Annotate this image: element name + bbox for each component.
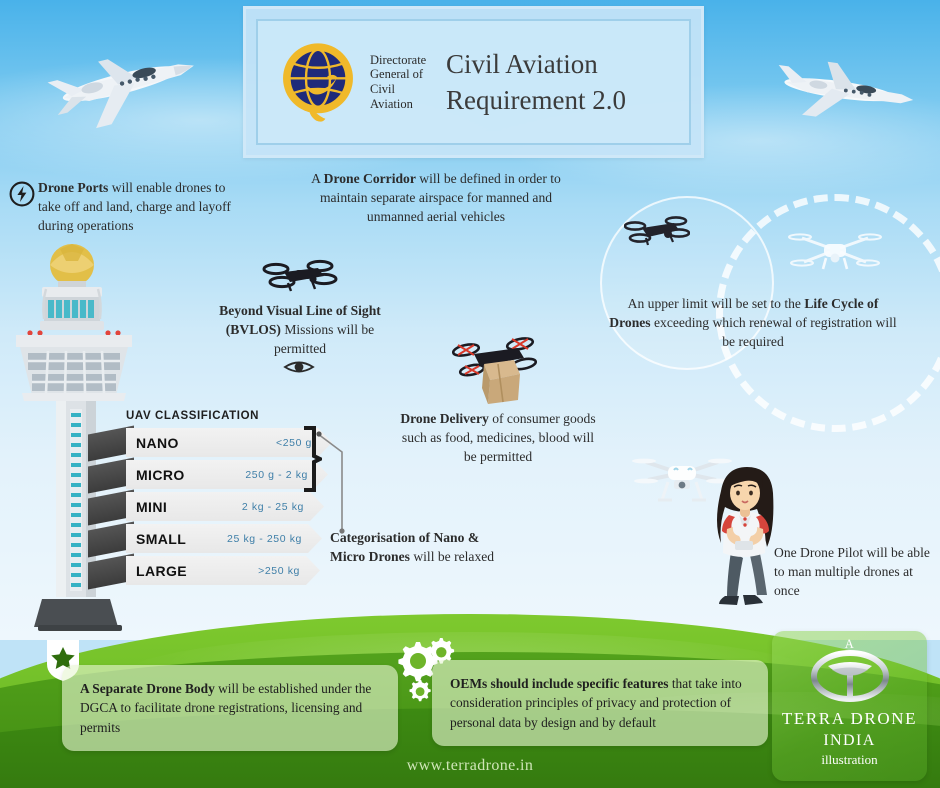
- dgca-word-1: Directorate: [370, 53, 430, 68]
- life-cycle-pre: An upper limit will be set to the: [628, 296, 805, 311]
- separate-drone-body-card: A Separate Drone Body will be establishe…: [62, 665, 398, 751]
- airplane-left-icon: [26, 38, 206, 130]
- airplane-right-icon: [762, 50, 922, 128]
- drone-corridor-pre: A: [311, 171, 323, 186]
- footer-website-url[interactable]: www.terradrone.in: [0, 757, 940, 775]
- separate-body-bold: A Separate Drone Body: [80, 681, 215, 696]
- life-cycle-rest: exceeding which renewal of registration …: [651, 315, 897, 349]
- uav-row-value: 25 kg - 250 kg: [227, 533, 302, 545]
- drone-delivery-text: Drone Delivery of consumer goods such as…: [398, 410, 598, 466]
- dgca-word-2: General of: [370, 67, 430, 82]
- one-pilot-text: One Drone Pilot will be able to man mult…: [774, 544, 936, 600]
- infographic-canvas: Directorate General of Civil Aviation Ci…: [0, 0, 940, 788]
- header-inner-frame: Directorate General of Civil Aviation Ci…: [256, 19, 691, 145]
- uav-chip: LARGE >250 kg: [126, 556, 320, 585]
- uav-chip: SMALL 25 kg - 250 kg: [126, 524, 322, 553]
- uav-row-value: 2 kg - 25 kg: [242, 501, 304, 513]
- page-title: Civil Aviation Requirement 2.0: [446, 46, 626, 118]
- brand-country: INDIA: [772, 732, 927, 750]
- uav-row-label: MICRO: [136, 467, 185, 483]
- categorisation-rest: will be relaxed: [410, 549, 494, 564]
- terra-drone-t-logo: [810, 650, 890, 702]
- drone-ports-bold: Drone Ports: [38, 180, 108, 195]
- drone-corridor-text: A Drone Corridor will be defined in orde…: [300, 170, 572, 226]
- eye-icon: [283, 357, 315, 377]
- oem-bold: OEMs should include specific features: [450, 676, 668, 691]
- dgca-globe-logo: [272, 36, 364, 128]
- uav-row-label: LARGE: [136, 563, 187, 579]
- uav-row-label: SMALL: [136, 531, 186, 547]
- top-right-black-drone-icon: [624, 212, 690, 250]
- categorisation-text: Categorisation of Nano & Micro Drones wi…: [330, 529, 514, 567]
- dgca-word-3: Civil: [370, 82, 430, 97]
- page-title-line1: Civil Aviation: [446, 46, 626, 82]
- page-title-line2: Requirement 2.0: [446, 82, 626, 118]
- lightning-bolt-icon: [9, 181, 35, 207]
- uav-chip: MICRO 250 g - 2 kg: [126, 460, 328, 489]
- drone-delivery-bold: Drone Delivery: [400, 411, 488, 426]
- top-right-white-drone-icon: [786, 222, 884, 278]
- header-panel: Directorate General of Civil Aviation Ci…: [243, 6, 704, 158]
- drone-ports-text: Drone Ports will enable drones to take o…: [38, 179, 234, 235]
- oem-features-card: OEMs should include specific features th…: [432, 660, 768, 746]
- bvlos-text: Beyond Visual Line of Sight (BVLOS) Miss…: [205, 302, 395, 358]
- dgca-word-4: Aviation: [370, 97, 430, 112]
- dgca-logo-words: Directorate General of Civil Aviation: [370, 53, 430, 112]
- drone-pilot-person: [705, 463, 785, 615]
- uav-row-value: >250 kg: [258, 565, 300, 577]
- uav-row-label: NANO: [136, 435, 179, 451]
- bvlos-quadcopter-drone-icon: [262, 256, 338, 298]
- categorisation-connector-line: [316, 430, 356, 540]
- uav-chip: MINI 2 kg - 25 kg: [126, 492, 324, 521]
- uav-row-label: MINI: [136, 499, 167, 515]
- delivery-drone-icon: [448, 334, 548, 410]
- life-cycle-text: An upper limit will be set to the Life C…: [608, 295, 898, 351]
- brand-name: TERRA DRONE: [772, 709, 927, 729]
- uav-row-value: 250 g - 2 kg: [245, 469, 308, 481]
- brand-a-label: A: [772, 631, 927, 652]
- drone-corridor-bold: Drone Corridor: [324, 171, 416, 186]
- uav-classification-title: UAV CLASSIFICATION: [126, 410, 376, 422]
- bvlos-rest: Missions will be permitted: [274, 322, 374, 356]
